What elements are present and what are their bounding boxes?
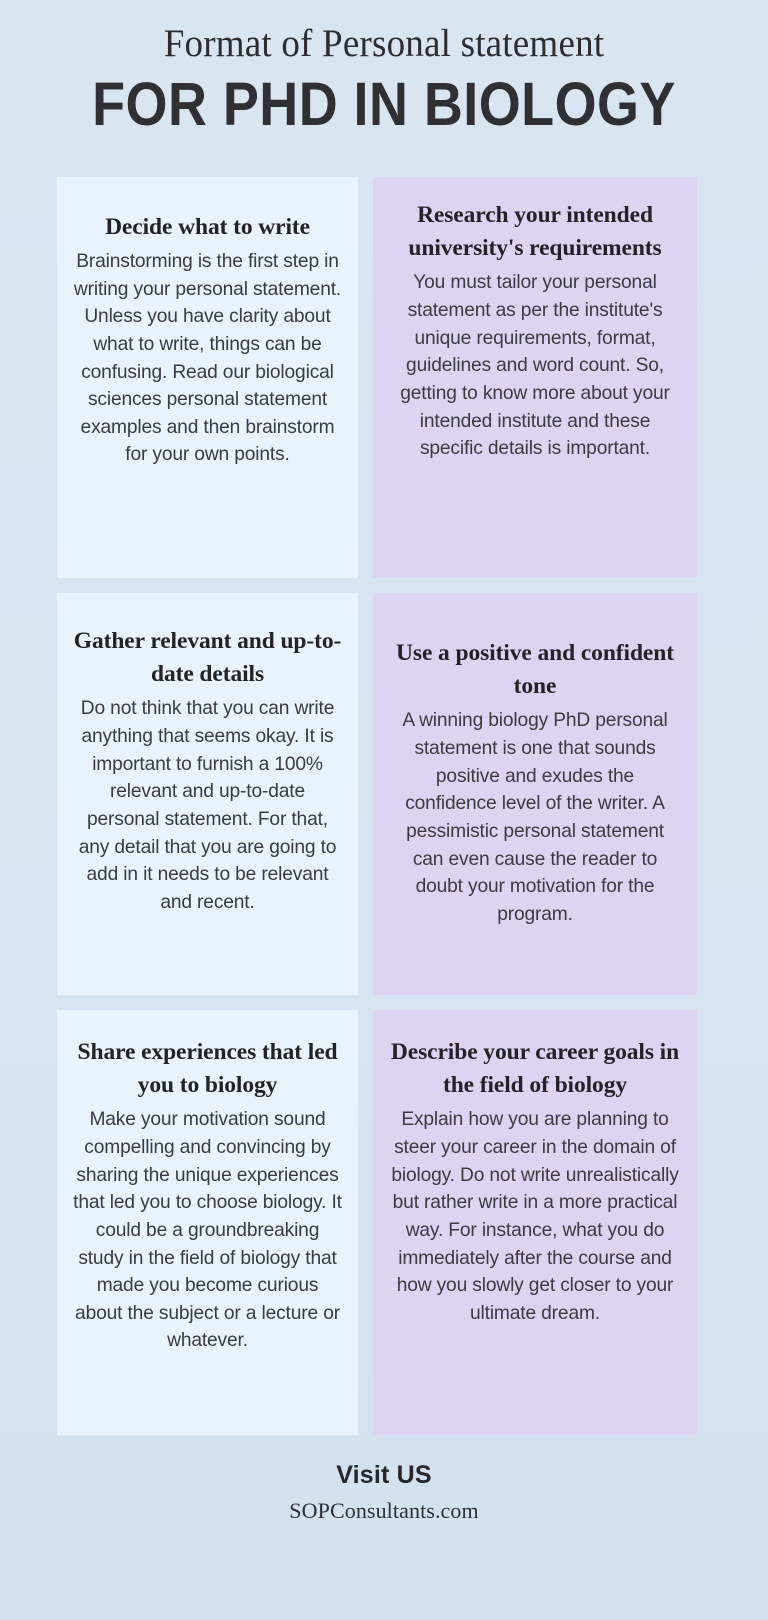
tip-card-4-body: A winning biology PhD personal statement… <box>389 707 681 928</box>
tip-card-4: Use a positive and confident tone A winn… <box>373 593 697 995</box>
page-title-primary: Format of Personal statement <box>42 22 726 67</box>
tip-card-6: Describe your career goals in the field … <box>373 1010 697 1435</box>
tip-card-3-heading: Gather relevant and up-to-date details <box>73 625 342 692</box>
tip-card-1: Decide what to write Brainstorming is th… <box>57 177 358 578</box>
tip-card-3-body: Do not think that you can write anything… <box>73 695 342 916</box>
tip-card-5-body: Make your motivation sound compelling an… <box>73 1106 342 1355</box>
tip-card-3: Gather relevant and up-to-date details D… <box>57 593 358 995</box>
tip-card-5: Share experiences that led you to biolog… <box>57 1010 358 1435</box>
tip-card-2-body: You must tailor your personal statement … <box>389 269 681 462</box>
tip-card-2-heading: Research your intended university's requ… <box>389 199 681 266</box>
tip-card-4-heading: Use a positive and confident tone <box>389 637 681 704</box>
tip-card-5-heading: Share experiences that led you to biolog… <box>73 1036 342 1103</box>
page-header: Format of Personal statement FOR PHD IN … <box>0 0 768 137</box>
tips-card-grid: Decide what to write Brainstorming is th… <box>0 177 768 1435</box>
page-footer: Visit US SOPConsultants.com <box>0 1435 768 1620</box>
tip-card-2: Research your intended university's requ… <box>373 177 697 578</box>
website-url[interactable]: SOPConsultants.com <box>289 1498 478 1524</box>
visit-us-label: Visit US <box>336 1461 432 1490</box>
infographic-root: Format of Personal statement FOR PHD IN … <box>0 0 768 1620</box>
tip-card-1-heading: Decide what to write <box>105 211 310 244</box>
tip-card-6-heading: Describe your career goals in the field … <box>389 1036 681 1103</box>
tip-card-6-body: Explain how you are planning to steer yo… <box>389 1106 681 1327</box>
tip-card-1-body: Brainstorming is the first step in writi… <box>73 248 342 469</box>
page-title-secondary: FOR PHD IN BIOLOGY <box>49 71 719 139</box>
